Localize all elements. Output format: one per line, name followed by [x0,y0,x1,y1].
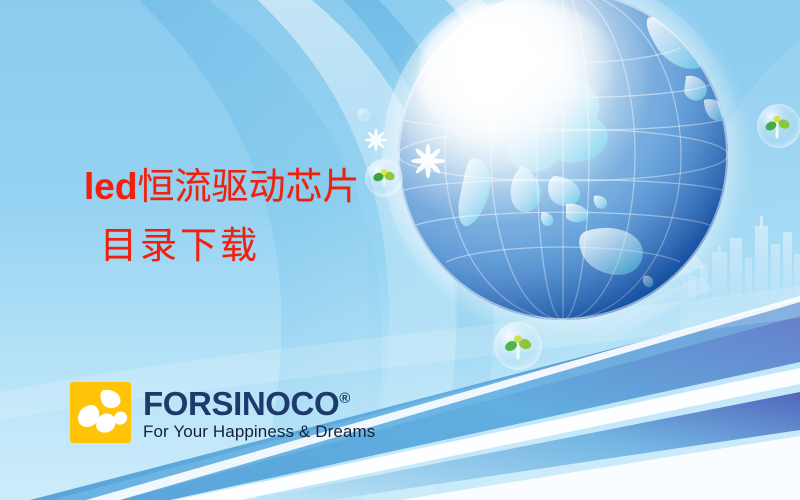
logo-wordmark: FORSINOCO® For Your Happiness & Dreams [143,382,375,442]
logo-name-text: FORSINOCO [143,385,339,422]
bubble-icon-with-leaf [365,159,403,197]
headline-cjk-phrase: 恒流驱动芯片 [137,165,359,208]
four-petal-flower-icon [70,382,131,443]
sparkle-flower-icon [407,140,449,182]
logo-company-name: FORSINOCO® [143,382,375,421]
headline: led恒流驱动芯片 目录下载 [84,168,359,264]
registered-trademark-icon: ® [339,390,350,407]
headline-line-2: 目录下载 [100,227,359,264]
bubble-icon-right-edge [757,104,800,148]
bubble-icon-tiny [357,108,370,121]
sparkle-flower-icon-small [362,126,390,154]
green-leaf-sprout-icon [757,104,800,148]
brand-logo: FORSINOCO® For Your Happiness & Dreams [70,382,375,443]
headline-latin-word: led [84,166,137,207]
green-leaf-sprout-icon [494,322,542,370]
bubble-icon-with-sprout [494,322,542,370]
green-leaf-sprout-icon [365,159,403,197]
logo-tagline: For Your Happiness & Dreams [143,422,375,442]
headline-line-1: led恒流驱动芯片 [84,168,359,205]
promo-banner: led恒流驱动芯片 目录下载 FORSINOCO® For Your Happi… [0,0,800,500]
